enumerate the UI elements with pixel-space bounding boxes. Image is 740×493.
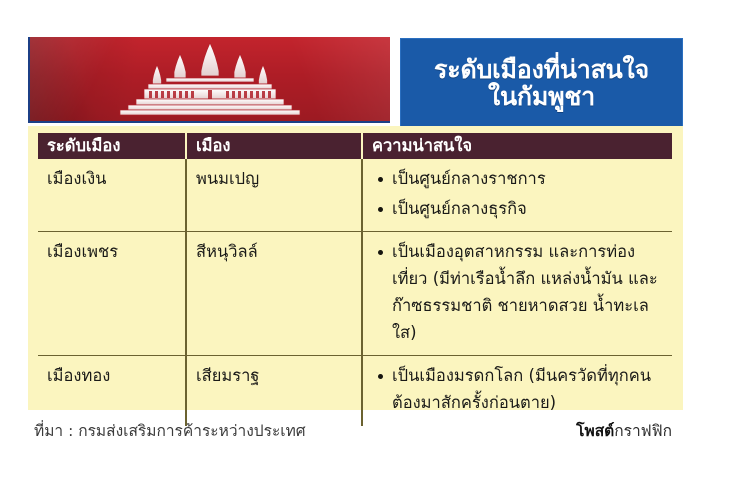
footer: ที่มา : กรมส่งเสริมการค้าระหว่างประเทศ โ…: [34, 418, 690, 443]
list-item: เป็นเมืองมรดกโลก (มีนครวัดที่ทุกคนต้องมา…: [377, 363, 668, 416]
page-title-line-1: ระดับเมืองที่น่าสนใจ: [434, 56, 649, 83]
source-note: ที่มา : กรมส่งเสริมการค้าระหว่างประเทศ: [34, 418, 306, 443]
highlight-list: เป็นเมืองอุตสาหกรรม และการท่องเที่ยว (มี…: [377, 239, 668, 346]
cell-city: พนมเปญ: [187, 159, 361, 231]
cell-level: เมืองเพชร: [38, 232, 185, 355]
list-item: เป็นศูนย์กลางธุรกิจ: [377, 196, 668, 223]
cell-city: เสียมราฐ: [187, 356, 361, 425]
angkor-wat-icon: [114, 41, 306, 117]
content-panel: ระดับเมือง เมือง ความน่าสนใจ เมืองเงิน พ…: [28, 126, 683, 410]
cell-city: สีหนุวิลล์: [187, 232, 361, 355]
table-row: เมืองเพชร สีหนุวิลล์ เป็นเมืองอุตสาหกรรม…: [38, 232, 672, 356]
highlight-list: เป็นศูนย์กลางราชการ เป็นศูนย์กลางธุรกิจ: [377, 166, 668, 222]
credit-brand: โพสต์: [576, 422, 614, 440]
table-row: เมืองทอง เสียมราฐ เป็นเมืองมรดกโลก (มีนค…: [38, 356, 672, 425]
cell-highlights: เป็นเมืองอุตสาหกรรม และการท่องเที่ยว (มี…: [363, 232, 672, 355]
cell-level: เมืองเงิน: [38, 159, 185, 231]
column-header-level: ระดับเมือง: [38, 133, 185, 159]
table-header-row: ระดับเมือง เมือง ความน่าสนใจ: [38, 133, 672, 159]
cambodia-flag-image: [28, 37, 390, 123]
list-item: เป็นศูนย์กลางราชการ: [377, 166, 668, 193]
city-levels-table: ระดับเมือง เมือง ความน่าสนใจ เมืองเงิน พ…: [38, 133, 672, 403]
cell-highlights: เป็นเมืองมรดกโลก (มีนครวัดที่ทุกคนต้องมา…: [363, 356, 672, 425]
table-body: เมืองเงิน พนมเปญ เป็นศูนย์กลางราชการ เป็…: [38, 159, 672, 426]
page-title-line-2: ในกัมพูชา: [488, 83, 595, 110]
table-row: เมืองเงิน พนมเปญ เป็นศูนย์กลางราชการ เป็…: [38, 159, 672, 232]
page-title: ระดับเมืองที่น่าสนใจ ในกัมพูชา: [400, 38, 683, 128]
graphic-credit: โพสต์กราฟฟิก: [576, 418, 672, 443]
cell-highlights: เป็นศูนย์กลางราชการ เป็นศูนย์กลางธุรกิจ: [363, 159, 672, 231]
column-header-highlights: ความน่าสนใจ: [363, 133, 672, 159]
column-header-city: เมือง: [187, 133, 361, 159]
cell-level: เมืองทอง: [38, 356, 185, 425]
credit-suffix: กราฟฟิก: [614, 422, 672, 440]
infographic-root: ระดับเมืองที่น่าสนใจ ในกัมพูชา ระดับเมือ…: [0, 0, 740, 493]
header-band: ระดับเมืองที่น่าสนใจ ในกัมพูชา: [28, 28, 683, 126]
list-item: เป็นเมืองอุตสาหกรรม และการท่องเที่ยว (มี…: [377, 239, 668, 346]
highlight-list: เป็นเมืองมรดกโลก (มีนครวัดที่ทุกคนต้องมา…: [377, 363, 668, 416]
